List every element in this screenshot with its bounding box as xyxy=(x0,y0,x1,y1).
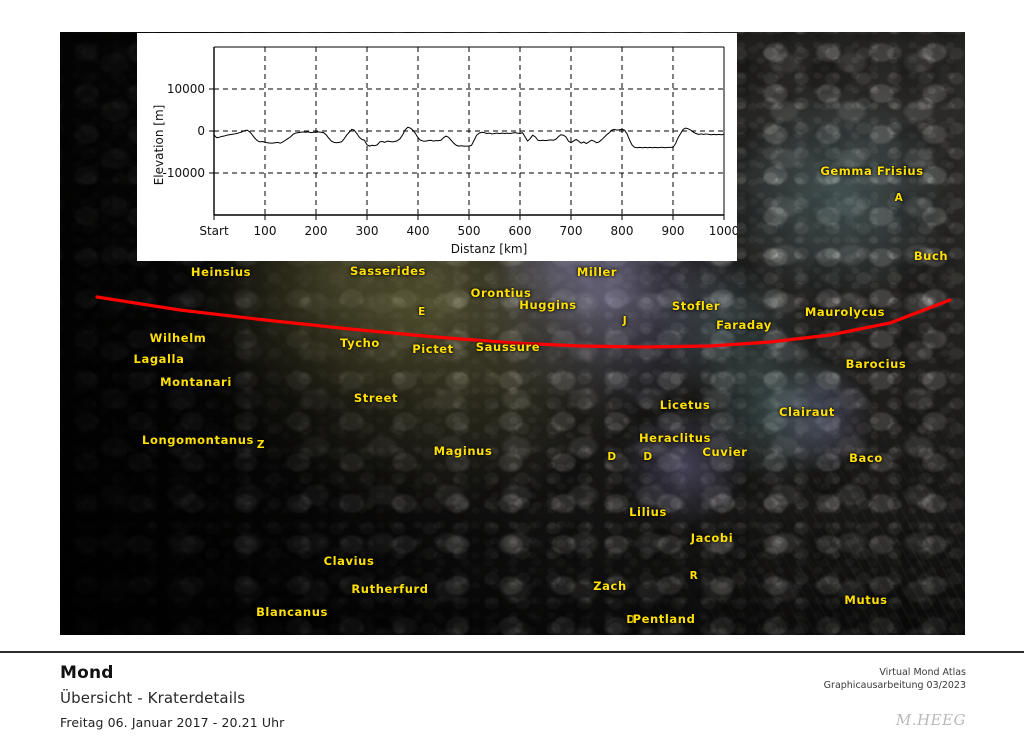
chart-x-tick-label: 200 xyxy=(305,224,328,238)
crater-label: Cuvier xyxy=(702,445,747,459)
crater-label: Clairaut xyxy=(779,405,835,419)
crater-label: Clavius xyxy=(324,554,375,568)
crater-label: Maginus xyxy=(434,444,493,458)
crater-label: Licetus xyxy=(660,398,711,412)
crater-label: Mutus xyxy=(844,593,887,607)
chart-x-tick-label: 600 xyxy=(509,224,532,238)
crater-label: Pictet xyxy=(412,342,454,356)
author-watermark: M.HEEG xyxy=(896,711,966,729)
chart-x-tick-label: 700 xyxy=(560,224,583,238)
page-title: Mond xyxy=(60,663,114,683)
crater-label: Rutherfurd xyxy=(351,582,428,596)
chart-x-axis-label: Distanz [km] xyxy=(451,242,528,256)
chart-y-tick-label: 10000 xyxy=(167,82,205,96)
crater-label: Wilhelm xyxy=(150,331,207,345)
crater-label: Heraclitus xyxy=(639,431,711,445)
chart-x-tick-label: 1000 xyxy=(709,224,737,238)
source-line-2: Graphicausarbeitung 03/2023 xyxy=(824,679,966,692)
crater-label: Miller xyxy=(577,265,617,279)
crater-label: D xyxy=(643,451,652,463)
chart-x-tick-label: Start xyxy=(199,224,229,238)
crater-label: Z xyxy=(257,439,265,451)
crater-label: Tycho xyxy=(340,336,380,350)
crater-label: Sasserides xyxy=(350,264,426,278)
crater-label: Huggins xyxy=(519,298,576,312)
elevation-profile-chart: Start1002003004005006007008009001000 100… xyxy=(137,33,737,261)
crater-label: Saussure xyxy=(476,340,540,354)
chart-x-tick-label: 300 xyxy=(356,224,379,238)
crater-label: Zach xyxy=(593,579,627,593)
crater-label: D xyxy=(607,451,616,463)
crater-label: Jacobi xyxy=(691,531,734,545)
crater-label: Street xyxy=(354,391,398,405)
elevation-profile-panel: Start1002003004005006007008009001000 100… xyxy=(137,33,737,261)
chart-x-tick-label: 100 xyxy=(254,224,277,238)
crater-label: J xyxy=(623,315,628,327)
crater-label: Faraday xyxy=(716,318,772,332)
crater-label: A xyxy=(895,192,904,204)
crater-label: E xyxy=(418,306,426,318)
chart-y-tick-label: 0 xyxy=(197,124,205,138)
page-subtitle: Übersicht - Kraterdetails xyxy=(60,689,245,707)
crater-label: Blancanus xyxy=(256,605,328,619)
chart-x-tick-label: 400 xyxy=(407,224,430,238)
crater-label: Maurolycus xyxy=(805,305,885,319)
chart-x-tick-label: 900 xyxy=(662,224,685,238)
crater-label: Stofler xyxy=(672,299,720,313)
crater-label: Montanari xyxy=(160,375,232,389)
crater-label: Baco xyxy=(849,451,883,465)
crater-label: Pentland xyxy=(633,612,696,626)
chart-y-tick-label: -10000 xyxy=(162,166,205,180)
chart-x-tick-label: 500 xyxy=(458,224,481,238)
crater-label: Heinsius xyxy=(191,265,251,279)
crater-label: Buch xyxy=(914,249,948,263)
crater-label: Lilius xyxy=(629,505,667,519)
chart-x-tick-label: 800 xyxy=(611,224,634,238)
page-timestamp: Freitag 06. Januar 2017 - 20.21 Uhr xyxy=(60,715,284,730)
crater-label: Barocius xyxy=(846,357,907,371)
crater-label: Gemma Frisius xyxy=(820,164,923,178)
footer: Mond Übersicht - Kraterdetails Freitag 0… xyxy=(0,653,1024,743)
source-credit: Virtual Mond Atlas Graphicausarbeitung 0… xyxy=(824,666,966,692)
crater-label: R xyxy=(690,570,699,582)
crater-label: Lagalla xyxy=(134,352,185,366)
source-line-1: Virtual Mond Atlas xyxy=(824,666,966,679)
chart-y-axis-label: Elevation [m] xyxy=(152,105,166,186)
crater-label: Longomontanus xyxy=(142,433,254,447)
